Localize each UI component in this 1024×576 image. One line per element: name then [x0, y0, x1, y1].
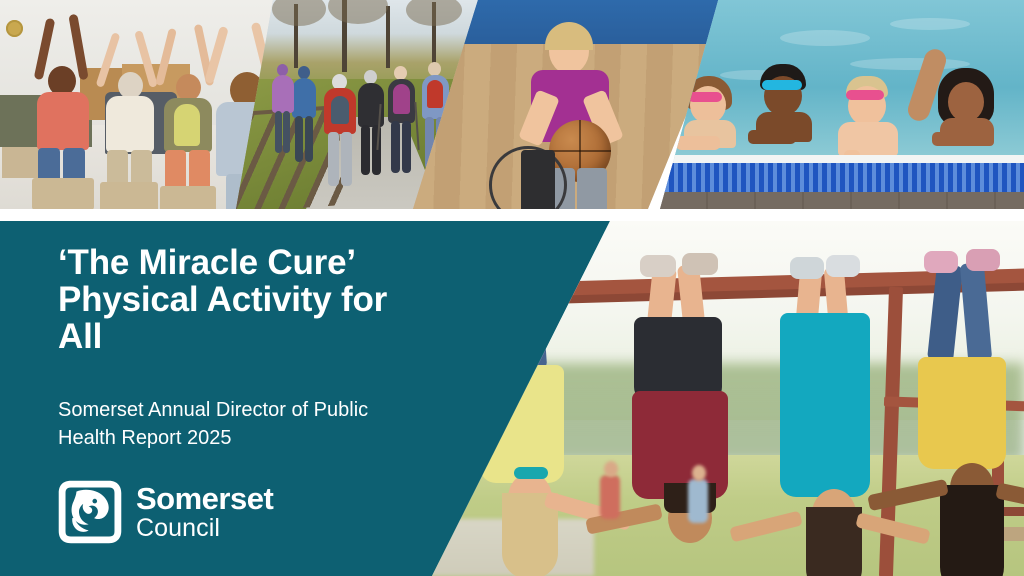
report-cover: ‘The Miracle Cure’ Physical Activity for… — [0, 0, 1024, 576]
logo-division: Council — [136, 516, 273, 541]
cover-title-line-1: ‘The Miracle Cure’ — [58, 244, 458, 281]
cover-subtitle-line-1: Somerset Annual Director of Public — [58, 396, 458, 424]
logo-organisation: Somerset — [136, 483, 273, 514]
cover-title-line-2: Physical Activity for — [58, 281, 458, 318]
somerset-council-logo: Somerset Council — [56, 478, 273, 546]
photo-strip — [0, 0, 1024, 209]
cover-title-line-3: All — [58, 318, 458, 355]
cover-subtitle-line-2: Health Report 2025 — [58, 424, 458, 452]
cover-title: ‘The Miracle Cure’ Physical Activity for… — [58, 244, 458, 355]
photo-panel-seated-exercise-class — [0, 0, 280, 209]
photo-panel-children-swimming — [660, 0, 1024, 209]
dragon-logo-icon — [56, 478, 124, 546]
logo-wordmark: Somerset Council — [136, 483, 273, 541]
cover-subtitle: Somerset Annual Director of Public Healt… — [58, 396, 458, 452]
